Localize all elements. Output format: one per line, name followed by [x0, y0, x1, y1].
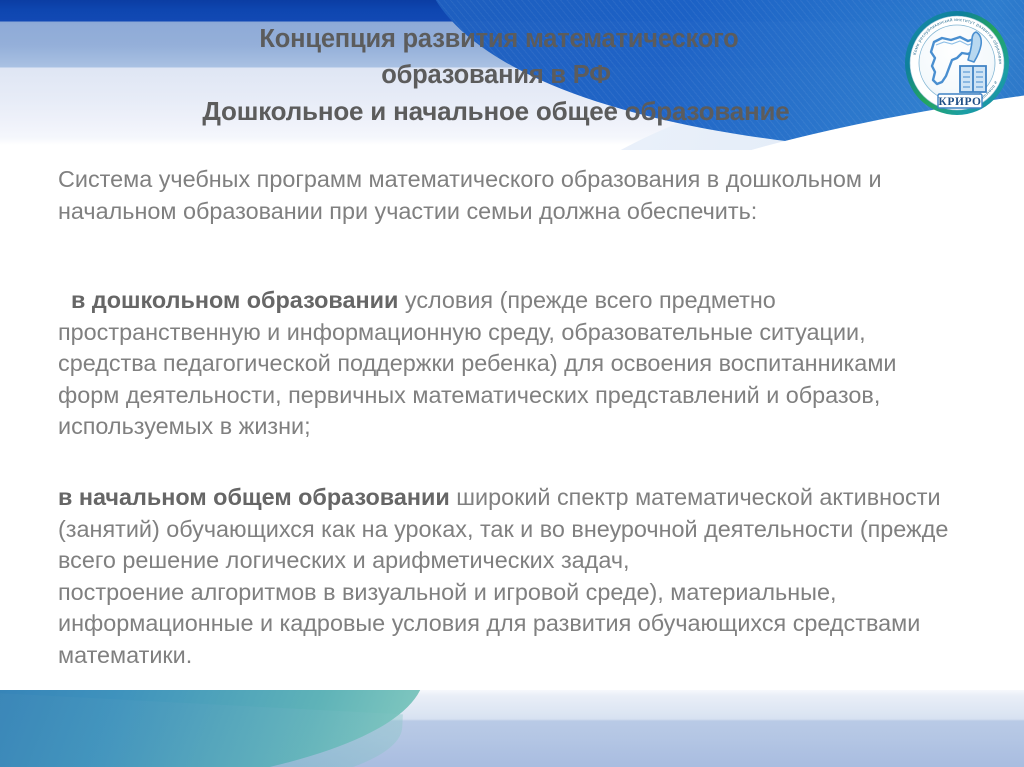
slide-body: Система учебных программ математического…: [0, 150, 1024, 710]
paragraph-preschool: в дошкольном образовании условия (прежде…: [58, 285, 958, 443]
paragraph-preschool-lead: в дошкольном образовании: [71, 287, 398, 313]
paragraph-intro-text: Система учебных программ математического…: [58, 166, 882, 224]
title-line-3: Дошкольное и начальное общее образование: [96, 93, 896, 129]
logo-acronym-text: КРИРО: [938, 96, 981, 108]
paragraph-primary-lead: в начальном общем образовании: [58, 484, 450, 510]
paragraph-intro: Система учебных программ математического…: [58, 164, 958, 227]
title-line-2: образования в РФ: [96, 57, 896, 93]
slide-title: Концепция развития математического образ…: [96, 21, 896, 129]
paragraph-primary: в начальном общем образовании широкий сп…: [58, 482, 958, 672]
presentation-slide: Концепция развития математического образ…: [0, 0, 1024, 767]
kriro-logo-icon: Коми республиканский институт развития о…: [902, 8, 1012, 118]
title-line-1: Концепция развития математического: [102, 21, 896, 57]
paragraph-primary-text: широкий спектр математической активности…: [58, 484, 948, 668]
